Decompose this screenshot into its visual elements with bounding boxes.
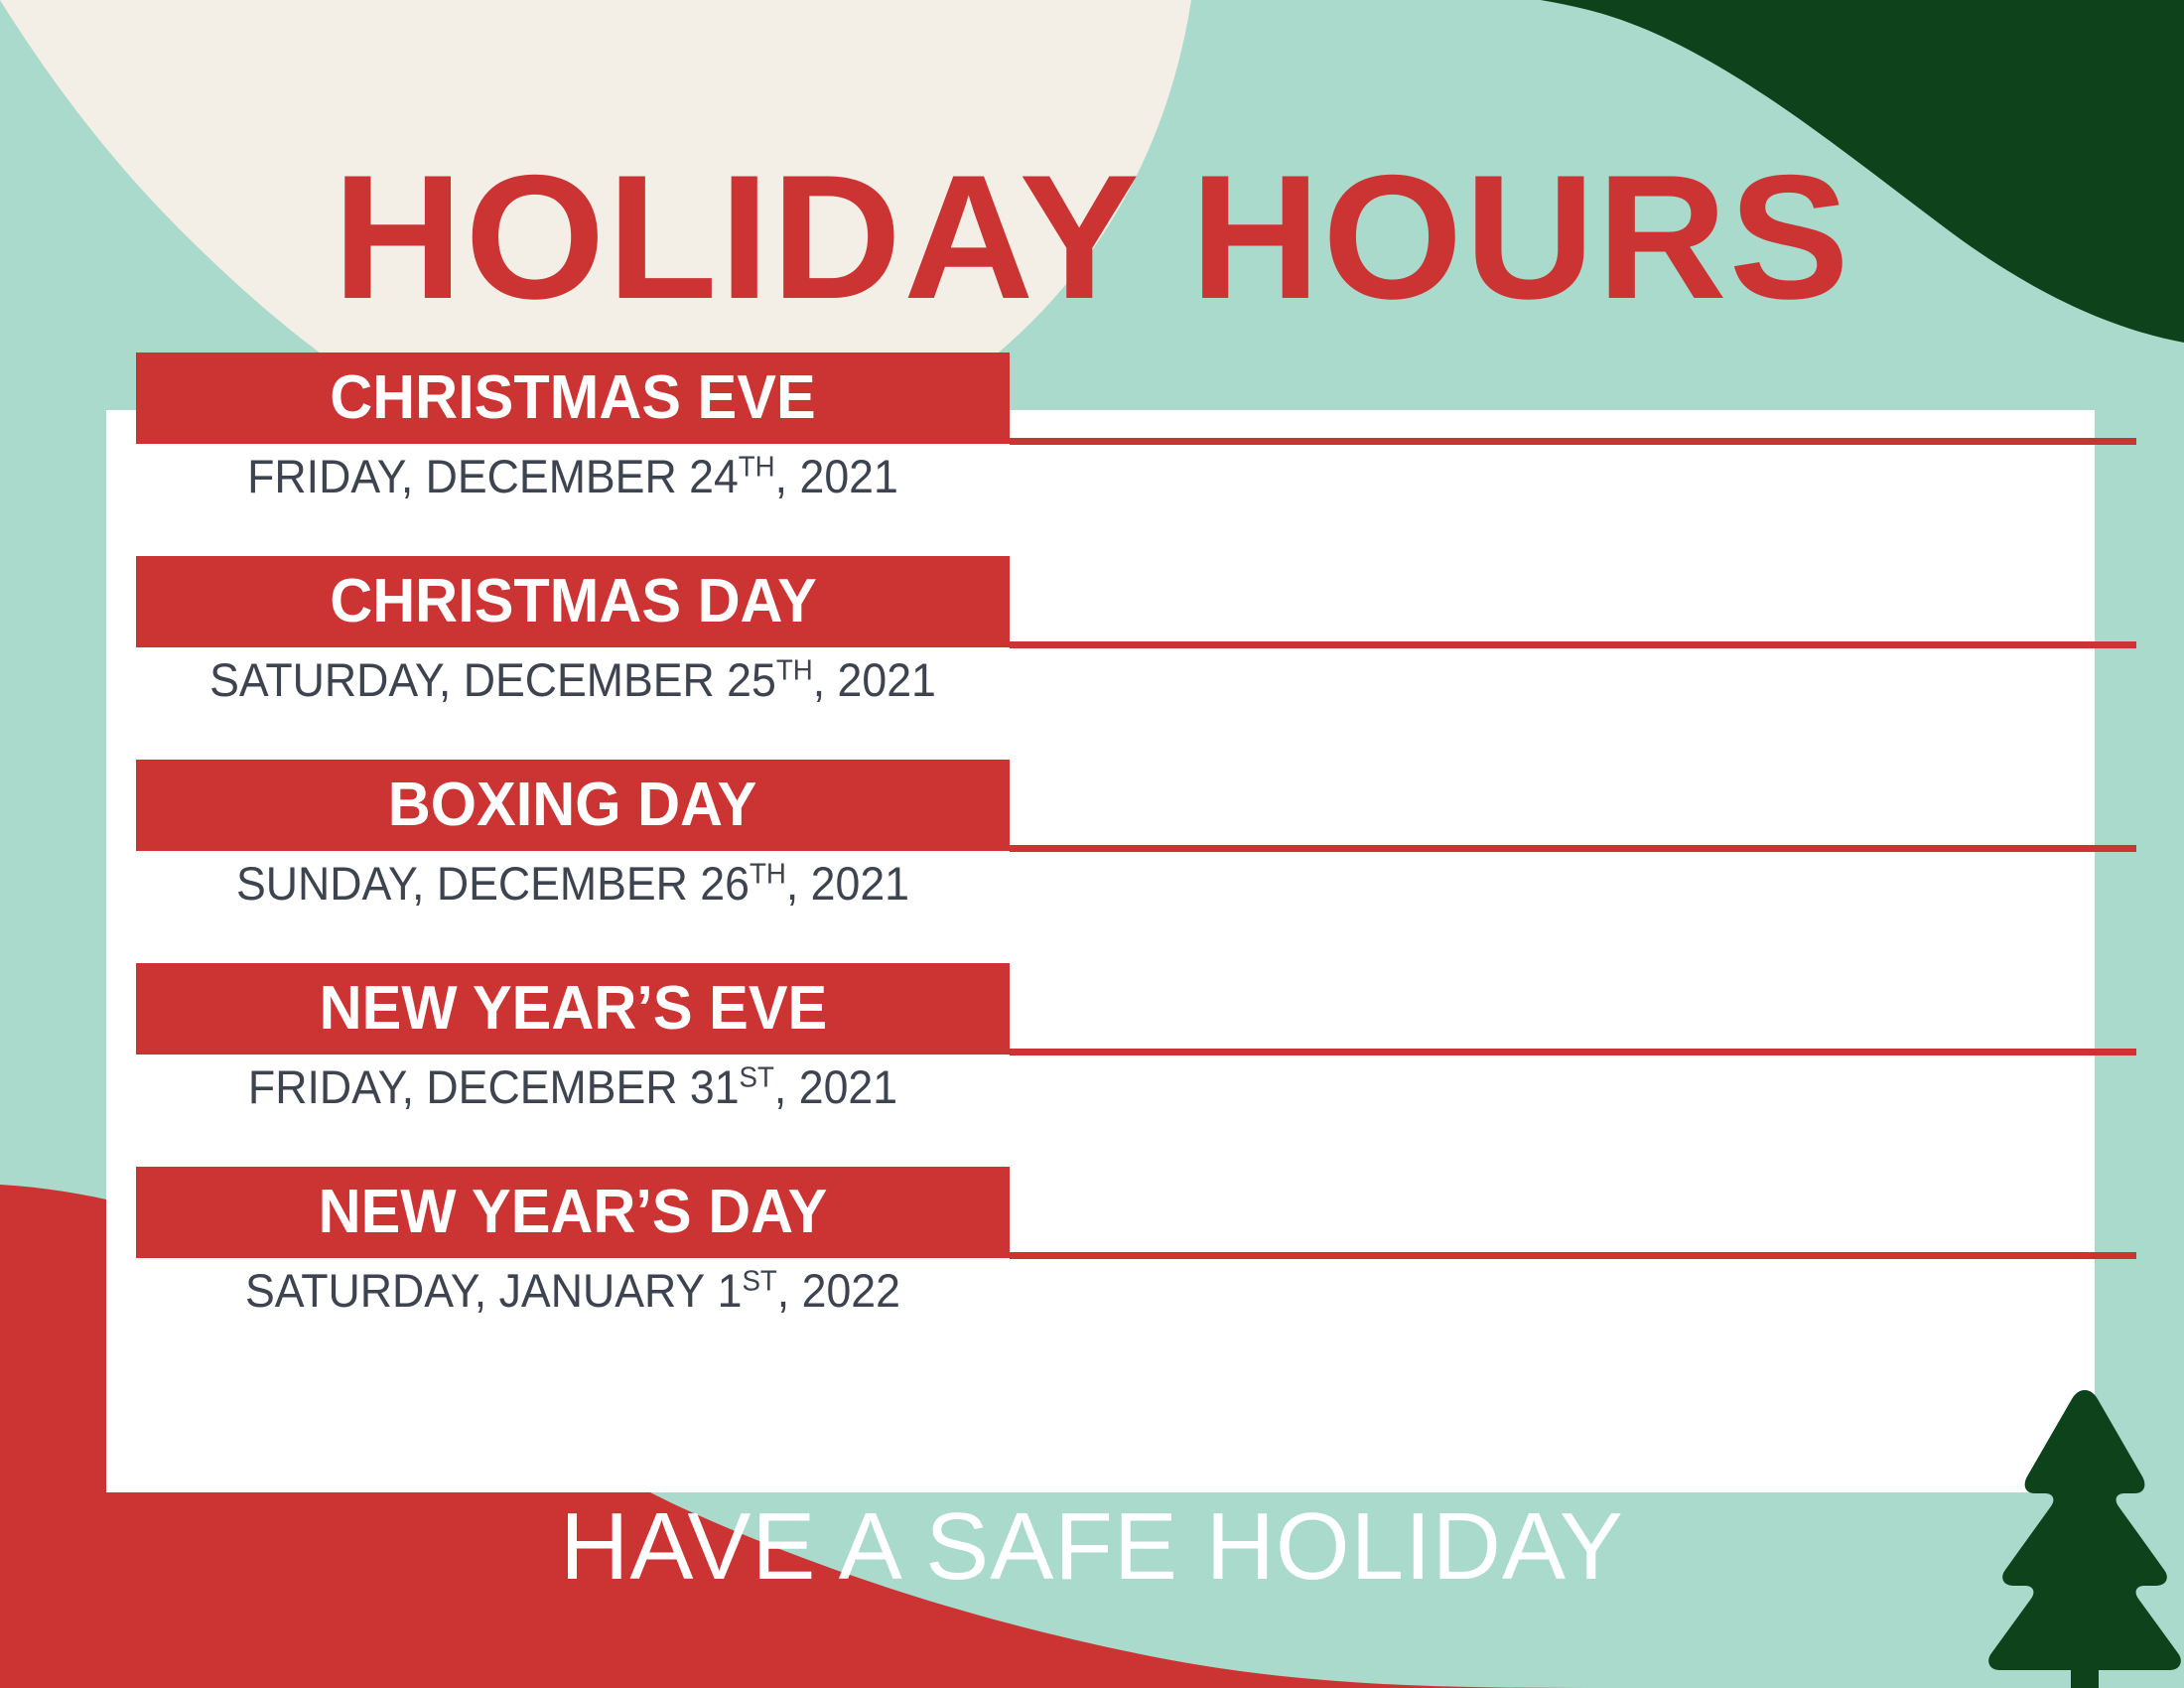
holiday-date-month: DECEMBER [437, 857, 688, 910]
comma-separator: , [813, 653, 838, 706]
holiday-date-month: DECEMBER [464, 653, 715, 706]
holiday-name-block: CHRISTMAS DAY [136, 556, 1010, 647]
holiday-name-block: NEW YEAR’S EVE [136, 963, 1010, 1055]
hours-write-in-line[interactable] [1010, 1049, 2136, 1055]
holiday-date-day: 25 [727, 653, 776, 706]
comma-separator: , [475, 1264, 499, 1317]
christmas-tree-icon [1976, 1385, 2184, 1688]
holiday-date-year: 2021 [838, 653, 936, 706]
holiday-date-ordinal: TH [739, 451, 775, 483]
holiday-date-day: 24 [689, 450, 739, 502]
comma-separator: , [775, 450, 800, 502]
holiday-date: FRIDAY, DECEMBER 31ST, 2021 [158, 1060, 988, 1114]
comma-separator: , [402, 1060, 427, 1113]
comma-separator: , [401, 450, 426, 502]
holiday-name-label: NEW YEAR’S DAY [319, 1182, 828, 1243]
holiday-date-ordinal: ST [742, 1265, 776, 1297]
holiday-name-label: CHRISTMAS DAY [330, 571, 817, 633]
holiday-date-weekday: SATURDAY [245, 1264, 475, 1317]
comma-separator: , [774, 1060, 799, 1113]
holiday-date: SUNDAY, DECEMBER 26TH, 2021 [158, 857, 988, 911]
hours-write-in-line[interactable] [1010, 641, 2136, 648]
holiday-name-label: CHRISTMAS EVE [330, 367, 815, 429]
holiday-date-weekday: FRIDAY [247, 450, 401, 502]
holiday-date-month: JANUARY [499, 1264, 706, 1317]
hours-write-in-line[interactable] [1010, 438, 2136, 445]
holiday-hours-poster: HOLIDAY HOURS CHRISTMAS EVE FRIDAY, DECE… [0, 0, 2184, 1688]
hours-write-in-line[interactable] [1010, 845, 2136, 852]
holiday-name-block: CHRISTMAS EVE [136, 352, 1010, 444]
holiday-date-day: 1 [718, 1264, 743, 1317]
footer-message: HAVE A SAFE HOLIDAY [0, 1499, 2184, 1595]
holiday-name-label: NEW YEAR’S EVE [319, 978, 827, 1040]
holiday-date-year: 2022 [802, 1264, 900, 1317]
holiday-name-label: BOXING DAY [388, 774, 757, 836]
holiday-date-day: 31 [690, 1060, 740, 1113]
holiday-date-month: DECEMBER [426, 450, 677, 502]
holiday-date-weekday: SUNDAY [236, 857, 412, 910]
holiday-date-ordinal: ST [740, 1061, 774, 1093]
page-title: HOLIDAY HOURS [0, 149, 2184, 326]
holiday-name-block: NEW YEAR’S DAY [136, 1167, 1010, 1258]
hours-write-in-line[interactable] [1010, 1252, 2136, 1259]
schedule-card: CHRISTMAS EVE FRIDAY, DECEMBER 24TH, 202… [106, 410, 2095, 1492]
holiday-date-weekday: SATURDAY [209, 653, 439, 706]
holiday-date: SATURDAY, JANUARY 1ST, 2022 [158, 1264, 988, 1318]
holiday-date: SATURDAY, DECEMBER 25TH, 2021 [158, 653, 988, 707]
comma-separator: , [786, 857, 811, 910]
holiday-date-ordinal: TH [750, 858, 786, 890]
holiday-date-month: DECEMBER [426, 1060, 677, 1113]
comma-separator: , [777, 1264, 802, 1317]
holiday-date-ordinal: TH [776, 654, 813, 686]
holiday-date: FRIDAY, DECEMBER 24TH, 2021 [158, 450, 988, 503]
holiday-name-block: BOXING DAY [136, 760, 1010, 851]
holiday-date-year: 2021 [799, 450, 897, 502]
comma-separator: , [439, 653, 464, 706]
holiday-date-weekday: FRIDAY [248, 1060, 402, 1113]
schedule-rows: CHRISTMAS EVE FRIDAY, DECEMBER 24TH, 202… [106, 410, 2095, 1492]
comma-separator: , [412, 857, 437, 910]
holiday-date-year: 2021 [811, 857, 909, 910]
holiday-date-year: 2021 [799, 1060, 897, 1113]
holiday-date-day: 26 [700, 857, 750, 910]
